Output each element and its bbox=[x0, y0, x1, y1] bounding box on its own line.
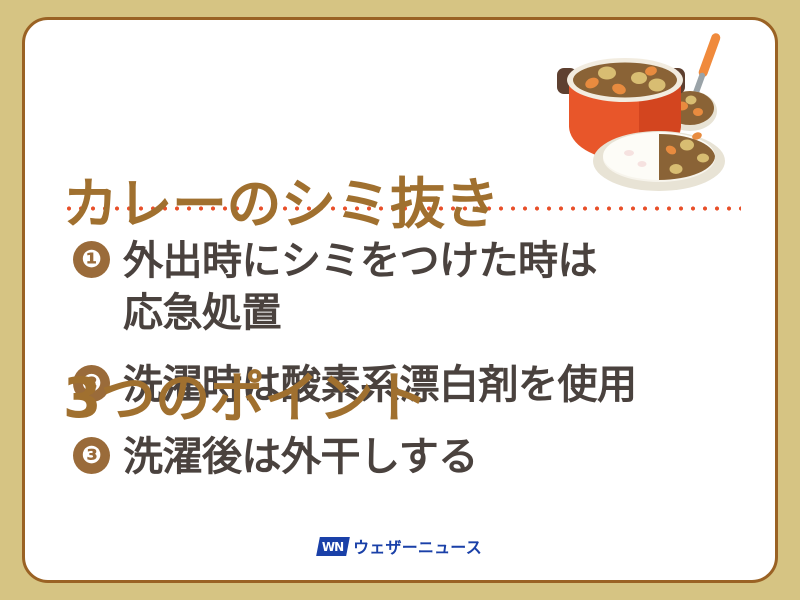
footer-branding: WN ウェザーニュース bbox=[25, 534, 775, 558]
page-title: カレーのシミ抜き 3つのポイント bbox=[63, 42, 775, 561]
title-line-2: 3つのポイント bbox=[63, 366, 775, 431]
header: カレーのシミ抜き 3つのポイント bbox=[25, 20, 775, 202]
weathernews-logo-icon: WN bbox=[316, 537, 350, 556]
logo-mark-text: WN bbox=[322, 539, 343, 553]
title-line-1: カレーのシミ抜き bbox=[63, 172, 775, 237]
infographic-card: カレーのシミ抜き 3つのポイント bbox=[22, 17, 778, 583]
logo-text: ウェザーニュース bbox=[353, 534, 482, 558]
